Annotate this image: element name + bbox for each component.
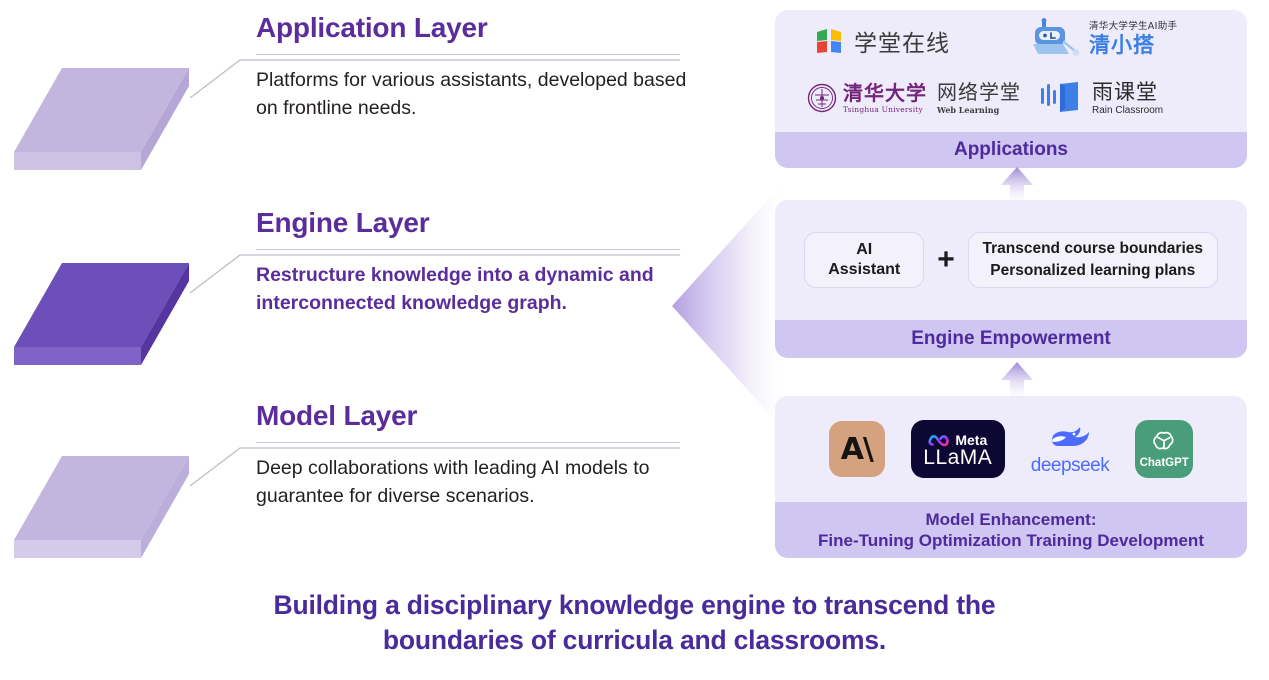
- logo-xuetangx[interactable]: 学堂在线: [815, 24, 950, 58]
- logo-tsinghua-web-learning[interactable]: 清华大学 Tsinghua University 网络学堂 Web Learni…: [807, 82, 1021, 114]
- logo-meta-llama[interactable]: Meta LLaMA: [911, 420, 1005, 478]
- pill-engine-features-line1: Transcend course boundaries: [983, 238, 1204, 260]
- up-arrow-icon-applications: [995, 165, 1039, 205]
- logo-xuetangx-label: 学堂在线: [854, 24, 950, 58]
- slide-caption-line1: Building a disciplinary knowledge engine…: [0, 588, 1269, 623]
- panel-banner-engine-label: Engine Empowerment: [911, 328, 1111, 350]
- logo-anthropic-mark: A\: [841, 432, 873, 467]
- panel-applications: 学堂在线 清华大学学生AI助手 清小搭: [775, 10, 1247, 168]
- layer-row-model: Model Layer Deep collaborations with lea…: [0, 400, 700, 580]
- logo-anthropic[interactable]: A\: [829, 421, 885, 477]
- layer-row-application: Application Layer Platforms for various …: [0, 12, 700, 192]
- logo-rain-cn-label: 雨课堂: [1092, 82, 1163, 103]
- layer-description-application: Platforms for various assistants, develo…: [256, 66, 688, 122]
- logo-deepseek-label: deepseek: [1031, 455, 1109, 477]
- logo-chatgpt[interactable]: ChatGPT: [1135, 420, 1193, 478]
- pill-engine-features[interactable]: Transcend course boundaries Personalized…: [968, 232, 1218, 288]
- logo-chatgpt-label: ChatGPT: [1140, 457, 1189, 469]
- pill-ai-assistant-line1: AI: [856, 240, 872, 260]
- layer-description-engine: Restructure knowledge into a dynamic and…: [256, 261, 688, 317]
- layer-row-engine: Engine Layer Restructure knowledge into …: [0, 207, 700, 387]
- pill-engine-features-line2: Personalized learning plans: [990, 260, 1195, 282]
- layer-slab-model: [14, 448, 189, 566]
- panel-banner-model: Model Enhancement: Fine-Tuning Optimizat…: [775, 502, 1247, 558]
- panel-banner-applications: Applications: [775, 132, 1247, 168]
- layer-title-rule-model: [256, 442, 680, 443]
- panel-banner-engine: Engine Empowerment: [775, 320, 1247, 358]
- panel-banner-model-line2: Fine-Tuning Optimization Training Develo…: [818, 530, 1204, 551]
- slide-caption-line2: boundaries of curricula and classrooms.: [0, 623, 1269, 658]
- engine-pill-row: AI Assistant + Transcend course boundari…: [775, 200, 1247, 320]
- openai-knot-icon: [1151, 429, 1177, 455]
- logo-tsinghua-cn-label: 清华大学: [843, 83, 927, 103]
- layer-description-model: Deep collaborations with leading AI mode…: [256, 454, 688, 510]
- layer-title-model: Model Layer: [256, 400, 417, 432]
- logo-qingxiaoda-label: 清小搭: [1089, 35, 1177, 56]
- logo-llama-label: LLaMA: [923, 448, 992, 468]
- logo-qingxiaoda[interactable]: 清华大学学生AI助手 清小搭: [1030, 18, 1177, 60]
- panel-banner-applications-label: Applications: [954, 139, 1068, 161]
- pill-ai-assistant-line2: Assistant: [828, 260, 900, 280]
- logo-weblearning-cn-label: 网络学堂: [937, 82, 1021, 102]
- deepseek-whale-icon: [1044, 422, 1096, 454]
- layer-slab-engine: [14, 255, 189, 373]
- xuetangx-book-icon: [815, 26, 845, 56]
- panel-banner-model-line1: Model Enhancement:: [926, 509, 1097, 530]
- pill-ai-assistant[interactable]: AI Assistant: [804, 232, 924, 288]
- slide-canvas: Application Layer Platforms for various …: [0, 0, 1269, 680]
- logo-tsinghua-en-label: Tsinghua University: [843, 106, 927, 114]
- layer-title-rule-engine: [256, 249, 680, 250]
- logo-rain-classroom[interactable]: 雨课堂 Rain Classroom: [1040, 82, 1163, 116]
- layer-title-engine: Engine Layer: [256, 207, 429, 239]
- left-pointing-chevron-icon: [672, 182, 790, 430]
- application-logo-grid: 学堂在线 清华大学学生AI助手 清小搭: [775, 10, 1247, 132]
- layer-title-rule-application: [256, 54, 680, 55]
- model-logo-row: A\ Meta: [775, 396, 1247, 502]
- meta-infinity-icon: [928, 434, 950, 447]
- plus-icon: +: [937, 245, 955, 275]
- panel-model: A\ Meta: [775, 396, 1247, 558]
- robot-mascot-icon: [1030, 18, 1082, 60]
- logo-weblearning-en-label: Web Learning: [937, 106, 1021, 114]
- tsinghua-seal-icon: [807, 83, 837, 113]
- logo-qingxiaoda-sublabel: 清华大学学生AI助手: [1089, 22, 1177, 32]
- logo-deepseek[interactable]: deepseek: [1031, 422, 1109, 477]
- layer-title-application: Application Layer: [256, 12, 488, 44]
- logo-rain-en-label: Rain Classroom: [1092, 106, 1163, 116]
- slide-caption: Building a disciplinary knowledge engine…: [0, 588, 1269, 658]
- rain-classroom-book-icon: [1040, 82, 1084, 116]
- up-arrow-icon-engine: [995, 360, 1039, 400]
- layer-slab-application: [14, 60, 189, 178]
- panel-engine: AI Assistant + Transcend course boundari…: [775, 200, 1247, 358]
